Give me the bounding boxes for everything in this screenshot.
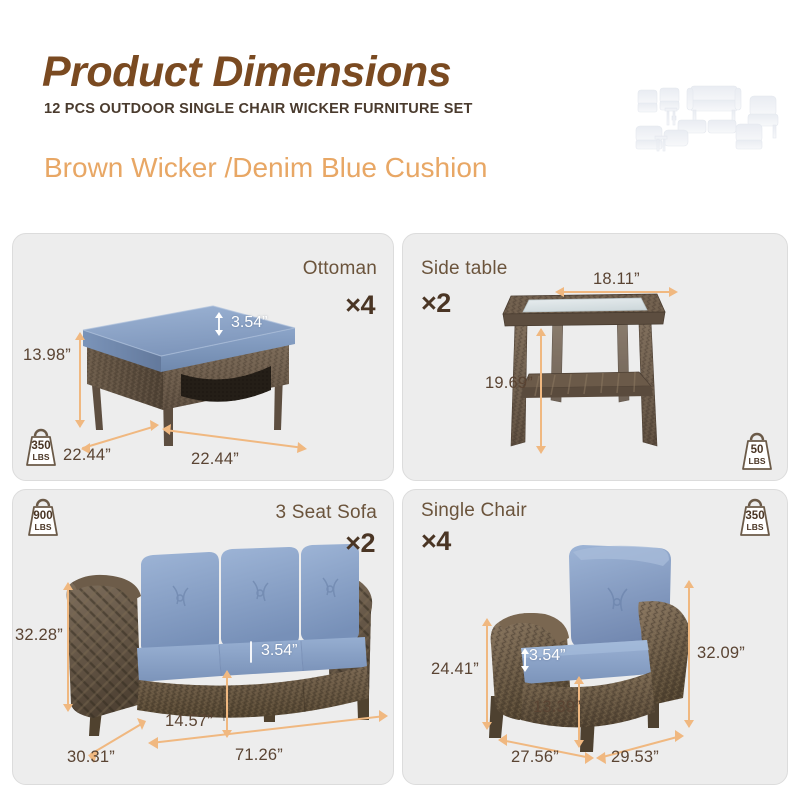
- page-title: Product Dimensions: [42, 48, 451, 97]
- dim-chair-seat-height: 13.39”: [533, 698, 581, 717]
- dim-sofa-height: 32.28”: [15, 626, 63, 645]
- weight-badge-single-chair: 350 LBS: [735, 496, 775, 540]
- dim-ottoman-depth: 22.44”: [63, 446, 111, 465]
- dim-side-table-width: 18.11”: [593, 270, 640, 289]
- color-variant-label: Brown Wicker /Denim Blue Cushion: [44, 152, 488, 184]
- three-seat-sofa-illustration: [13, 490, 394, 785]
- weight-value: 50: [737, 445, 777, 457]
- panel-three-seat-sofa: 3 Seat Sofa ×2 32.28” 3.54” 14.57” 30.31…: [12, 489, 394, 785]
- weight-value: 350: [21, 441, 61, 453]
- dim-chair-width: 29.53”: [611, 748, 659, 767]
- furniture-set-thumbnail-icon: [628, 76, 796, 154]
- dim-side-table-height: 19.69”: [485, 374, 533, 393]
- panel-label-single-chair: Single Chair: [421, 500, 527, 522]
- panel-qty-ottoman: ×4: [345, 290, 375, 321]
- panel-side-table: Side table ×2 18.11” 19.69” 50 LBS: [402, 233, 788, 481]
- dim-chair-height: 32.09”: [697, 644, 745, 663]
- weight-badge-three-seat-sofa: 900 LBS: [23, 496, 63, 540]
- panel-label-side-table: Side table: [421, 258, 508, 280]
- dim-ottoman-width: 22.44”: [191, 450, 239, 469]
- dimension-panels-grid: Ottoman ×4 3.54” 13.98” 22.44” 22.44” 35…: [12, 233, 788, 785]
- dim-chair-arm-height: 24.41”: [431, 660, 479, 679]
- weight-unit: LBS: [735, 523, 775, 532]
- weight-badge-ottoman: 350 LBS: [21, 426, 61, 470]
- dim-sofa-seat-height: 14.57”: [165, 712, 213, 731]
- header: Product Dimensions 12 PCS OUTDOOR SINGLE…: [0, 0, 800, 225]
- panel-qty-single-chair: ×4: [421, 526, 451, 557]
- weight-value: 900: [23, 511, 63, 523]
- dim-chair-depth: 27.56”: [511, 748, 559, 767]
- panel-label-three-seat-sofa: 3 Seat Sofa: [276, 502, 378, 524]
- weight-badge-side-table: 50 LBS: [737, 430, 777, 474]
- weight-unit: LBS: [21, 453, 61, 462]
- single-chair-illustration: [403, 490, 788, 785]
- weight-unit: LBS: [23, 523, 63, 532]
- panel-single-chair: Single Chair ×4 3.54” 24.41” 32.09” 13.3…: [402, 489, 788, 785]
- dim-ottoman-height: 13.98”: [23, 346, 71, 365]
- dim-sofa-cushion-thickness: 3.54”: [261, 642, 297, 660]
- panel-ottoman: Ottoman ×4 3.54” 13.98” 22.44” 22.44” 35…: [12, 233, 394, 481]
- page-subtitle: 12 PCS OUTDOOR SINGLE CHAIR WICKER FURNI…: [44, 101, 473, 117]
- dim-chair-cushion-thickness: 3.54”: [529, 647, 565, 665]
- dim-sofa-width: 71.26”: [235, 746, 283, 765]
- panel-qty-side-table: ×2: [421, 288, 451, 319]
- panel-label-ottoman: Ottoman: [303, 258, 377, 280]
- dim-ottoman-cushion-thickness: 3.54”: [231, 314, 267, 332]
- weight-unit: LBS: [737, 457, 777, 466]
- weight-value: 350: [735, 511, 775, 523]
- product-dimensions-infographic: Product Dimensions 12 PCS OUTDOOR SINGLE…: [0, 0, 800, 800]
- panel-qty-three-seat-sofa: ×2: [345, 528, 375, 559]
- dim-sofa-depth: 30.31”: [67, 748, 115, 767]
